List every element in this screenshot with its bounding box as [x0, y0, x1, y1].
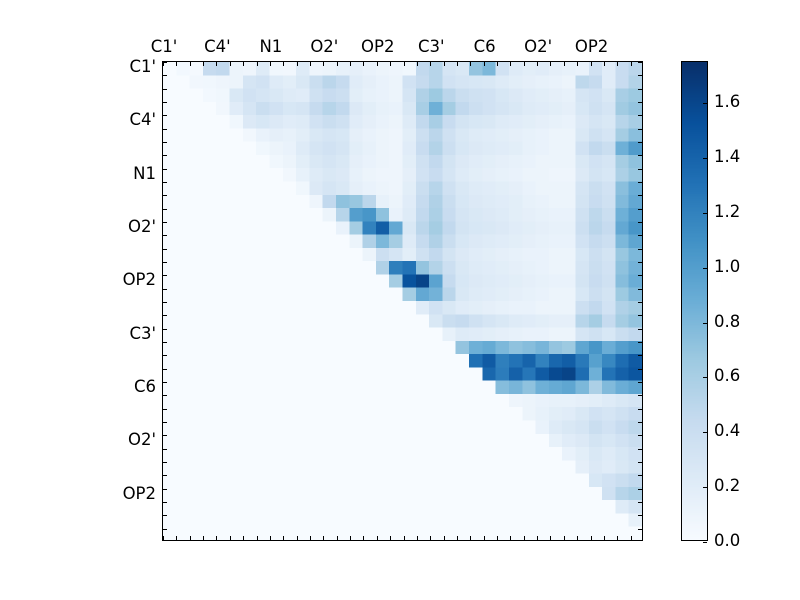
- x-tick: [484, 536, 485, 540]
- y-tick: [163, 475, 167, 476]
- x-tick: [377, 536, 378, 540]
- y-tick: [638, 449, 642, 450]
- y-tick: [638, 475, 642, 476]
- y-tick: [638, 395, 642, 396]
- y-tick: [163, 222, 167, 223]
- y-tick: [638, 235, 642, 236]
- x-tick: [216, 62, 217, 66]
- y-tick: [163, 489, 167, 490]
- heatmap-axes[interactable]: [162, 61, 643, 541]
- y-tick: [638, 462, 642, 463]
- x-tick: [604, 62, 605, 66]
- y-tick: [163, 209, 167, 210]
- colorbar-tick-label: 0.2: [714, 478, 740, 495]
- x-tick: [497, 536, 498, 540]
- y-tick: [638, 382, 642, 383]
- colorbar-tick: [703, 377, 707, 378]
- figure-canvas: C1'C4'N1O2'OP2C3'C6O2'OP2 C1'C4'N1O2'OP2…: [0, 0, 800, 600]
- y-tick: [638, 89, 642, 90]
- x-tick: [297, 62, 298, 66]
- x-tick: [591, 62, 592, 66]
- x-tick: [604, 536, 605, 540]
- x-tick-label: C1': [151, 39, 178, 56]
- x-tick-label: OP2: [361, 39, 394, 56]
- x-tick: [524, 62, 525, 66]
- x-tick: [577, 62, 578, 66]
- x-tick: [243, 536, 244, 540]
- x-tick: [350, 536, 351, 540]
- x-tick: [430, 62, 431, 66]
- y-tick: [163, 75, 167, 76]
- x-tick: [631, 536, 632, 540]
- colorbar-tick: [703, 542, 707, 543]
- colorbar-tick-label: 0.4: [714, 423, 740, 440]
- x-tick: [337, 62, 338, 66]
- x-tick: [363, 536, 364, 540]
- x-tick: [190, 62, 191, 66]
- y-tick: [163, 195, 167, 196]
- y-tick-label: OP2: [123, 485, 156, 502]
- x-tick: [444, 62, 445, 66]
- x-tick: [363, 62, 364, 66]
- y-tick-label: O2': [128, 219, 156, 236]
- x-tick: [203, 62, 204, 66]
- colorbar-tick-label: 1.2: [714, 204, 740, 221]
- y-tick: [638, 329, 642, 330]
- x-tick: [390, 536, 391, 540]
- y-tick: [638, 275, 642, 276]
- colorbar-tick-label: 1.4: [714, 149, 740, 166]
- y-tick: [638, 409, 642, 410]
- colorbar-tick: [703, 323, 707, 324]
- y-tick: [638, 315, 642, 316]
- y-tick: [638, 129, 642, 130]
- x-tick: [510, 62, 511, 66]
- y-tick: [638, 222, 642, 223]
- y-tick: [163, 275, 167, 276]
- y-tick: [638, 102, 642, 103]
- y-tick: [638, 182, 642, 183]
- y-tick: [638, 529, 642, 530]
- x-tick: [176, 536, 177, 540]
- x-tick: [350, 62, 351, 66]
- x-tick: [390, 62, 391, 66]
- x-tick: [537, 536, 538, 540]
- colorbar-axes[interactable]: [681, 61, 708, 541]
- x-tick: [444, 536, 445, 540]
- x-tick: [430, 536, 431, 540]
- y-tick: [638, 489, 642, 490]
- x-tick: [550, 62, 551, 66]
- x-tick: [417, 536, 418, 540]
- y-tick: [163, 342, 167, 343]
- y-tick: [638, 249, 642, 250]
- y-tick: [638, 355, 642, 356]
- y-tick: [638, 169, 642, 170]
- colorbar-tick-label: 1.6: [714, 94, 740, 111]
- y-tick: [163, 355, 167, 356]
- y-tick: [638, 435, 642, 436]
- y-tick: [163, 182, 167, 183]
- y-tick: [163, 235, 167, 236]
- y-tick: [163, 102, 167, 103]
- x-tick: [163, 536, 164, 540]
- x-tick-label: C6: [474, 39, 496, 56]
- x-tick: [564, 536, 565, 540]
- y-tick: [163, 302, 167, 303]
- colorbar-tick: [703, 158, 707, 159]
- x-tick: [270, 536, 271, 540]
- x-tick-label: C4': [204, 39, 231, 56]
- y-tick-label: C6: [134, 379, 156, 396]
- y-tick: [163, 462, 167, 463]
- y-tick: [163, 315, 167, 316]
- x-tick: [470, 62, 471, 66]
- y-tick: [163, 289, 167, 290]
- x-tick: [617, 536, 618, 540]
- y-tick: [638, 422, 642, 423]
- y-tick: [163, 409, 167, 410]
- y-tick-label: C1': [129, 59, 156, 76]
- x-tick: [203, 536, 204, 540]
- y-tick: [163, 502, 167, 503]
- colorbar-tick-label: 0.6: [714, 368, 740, 385]
- x-tick-label: OP2: [575, 39, 608, 56]
- y-tick: [638, 502, 642, 503]
- x-tick: [417, 62, 418, 66]
- x-tick: [257, 62, 258, 66]
- y-tick: [638, 302, 642, 303]
- y-tick: [163, 249, 167, 250]
- y-tick-label: OP2: [123, 272, 156, 289]
- y-tick: [638, 342, 642, 343]
- x-tick: [190, 536, 191, 540]
- y-tick: [638, 262, 642, 263]
- y-tick-label: O2': [128, 432, 156, 449]
- y-tick: [163, 169, 167, 170]
- y-tick: [163, 262, 167, 263]
- x-tick: [550, 536, 551, 540]
- x-tick: [457, 536, 458, 540]
- x-tick: [404, 536, 405, 540]
- x-tick: [270, 62, 271, 66]
- y-tick: [163, 382, 167, 383]
- x-tick: [497, 62, 498, 66]
- colorbar-tick: [703, 487, 707, 488]
- colorbar-gradient: [682, 62, 707, 540]
- x-tick-label: C3': [418, 39, 445, 56]
- y-tick: [163, 155, 167, 156]
- x-tick: [377, 62, 378, 66]
- x-tick-label: N1: [259, 39, 282, 56]
- colorbar-tick: [703, 213, 707, 214]
- colorbar-tick: [703, 432, 707, 433]
- y-tick: [163, 369, 167, 370]
- y-tick: [163, 129, 167, 130]
- y-tick-label: C4': [129, 112, 156, 129]
- y-tick: [163, 62, 167, 63]
- y-tick: [163, 89, 167, 90]
- y-tick: [638, 155, 642, 156]
- x-tick: [323, 62, 324, 66]
- x-tick: [257, 536, 258, 540]
- y-tick: [163, 422, 167, 423]
- x-tick: [591, 536, 592, 540]
- y-tick: [638, 115, 642, 116]
- colorbar-tick: [703, 103, 707, 104]
- y-tick: [638, 75, 642, 76]
- x-tick: [404, 62, 405, 66]
- colorbar-tick-label: 0.8: [714, 314, 740, 331]
- y-tick: [163, 142, 167, 143]
- x-tick: [510, 536, 511, 540]
- y-tick: [163, 529, 167, 530]
- x-tick: [631, 62, 632, 66]
- y-tick: [638, 62, 642, 63]
- x-tick: [484, 62, 485, 66]
- y-tick: [638, 195, 642, 196]
- x-tick: [243, 62, 244, 66]
- y-tick: [163, 435, 167, 436]
- x-tick: [283, 536, 284, 540]
- x-tick: [537, 62, 538, 66]
- y-tick: [163, 329, 167, 330]
- x-tick: [323, 536, 324, 540]
- x-tick: [310, 62, 311, 66]
- x-tick: [283, 62, 284, 66]
- x-tick-label: O2': [524, 39, 552, 56]
- y-tick: [163, 115, 167, 116]
- x-tick: [457, 62, 458, 66]
- x-tick: [524, 536, 525, 540]
- y-tick-label: C3': [129, 325, 156, 342]
- x-tick: [230, 536, 231, 540]
- colorbar-tick: [703, 268, 707, 269]
- y-tick: [163, 395, 167, 396]
- x-tick: [310, 536, 311, 540]
- x-tick: [297, 536, 298, 540]
- x-tick: [216, 536, 217, 540]
- y-tick: [163, 515, 167, 516]
- colorbar-tick-label: 0.0: [714, 533, 740, 550]
- x-tick: [230, 62, 231, 66]
- x-tick: [577, 536, 578, 540]
- y-tick: [638, 209, 642, 210]
- x-tick: [337, 536, 338, 540]
- heatmap-image: [163, 62, 642, 540]
- x-tick-label: O2': [310, 39, 338, 56]
- y-tick-label: N1: [133, 165, 156, 182]
- y-tick: [638, 289, 642, 290]
- x-tick: [564, 62, 565, 66]
- y-tick: [638, 369, 642, 370]
- x-tick: [470, 536, 471, 540]
- x-tick: [617, 62, 618, 66]
- x-tick: [176, 62, 177, 66]
- y-tick: [163, 449, 167, 450]
- y-tick: [638, 142, 642, 143]
- colorbar-tick-label: 1.0: [714, 259, 740, 276]
- y-tick: [638, 515, 642, 516]
